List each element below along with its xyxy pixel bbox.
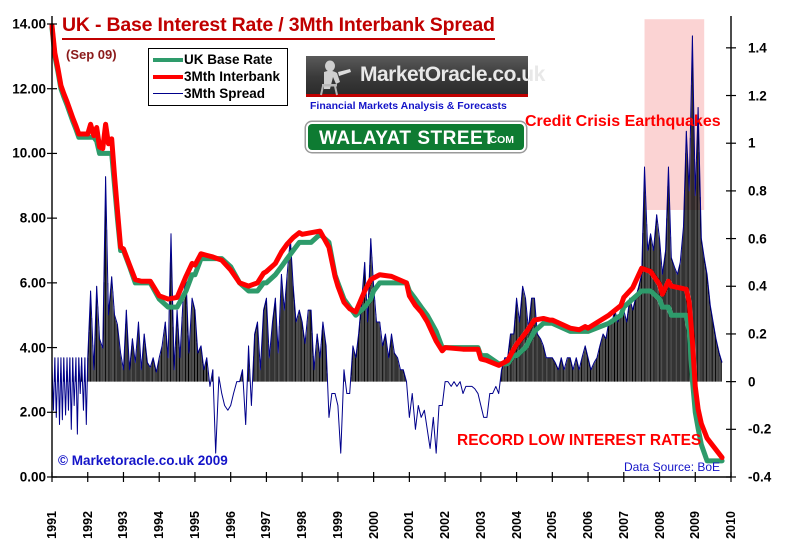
y-axis-left-labels: 0.002.004.006.008.0010.0012.0014.00 (0, 0, 46, 541)
reader-figure-icon (314, 58, 358, 96)
x-tick: 1991 (45, 511, 59, 539)
x-tick: 2000 (367, 511, 381, 539)
y-tick-right: 0.4 (748, 279, 767, 294)
y-tick-right: 0.8 (748, 183, 767, 198)
x-tick: 2010 (724, 511, 738, 539)
y-tick-right: 0 (748, 374, 756, 389)
x-tick: 1992 (81, 511, 95, 539)
y-axis-right-labels: -0.4-0.200.20.40.60.811.21.4 (748, 0, 798, 541)
x-tick: 1995 (188, 511, 202, 539)
y-tick-right: -0.2 (748, 422, 771, 437)
y-tick-right: 1 (748, 136, 756, 151)
marketoracle-logo-text: MarketOracle.co.uk (360, 63, 545, 87)
x-tick: 1996 (224, 511, 238, 539)
x-tick: 2002 (438, 511, 452, 539)
x-tick: 2003 (474, 511, 488, 539)
y-tick-right: 1.2 (748, 88, 767, 103)
walayat-street-tld: .COM (487, 134, 514, 146)
marketoracle-tagline: Financial Markets Analysis & Forecasts (310, 100, 507, 112)
legend-swatch-blue-icon (153, 93, 183, 95)
y-tick-left: 4.00 (20, 340, 46, 355)
legend-label-base-rate: UK Base Rate (184, 52, 273, 67)
y-tick-left: 2.00 (20, 405, 46, 420)
annotation-credit-crisis: Credit Crisis Earthquakes (525, 113, 721, 131)
y-tick-right: 1.4 (748, 40, 767, 55)
legend-label-spread: 3Mth Spread (184, 86, 265, 101)
x-axis-labels: 1991199219931994199519961997199819992000… (0, 481, 799, 539)
walayat-street-text: WALAYAT STREET (319, 128, 495, 150)
x-tick: 1993 (116, 511, 130, 539)
x-tick: 1998 (295, 511, 309, 539)
copyright-label: © Marketoracle.co.uk 2009 (58, 453, 228, 468)
annotation-record-low: RECORD LOW INTEREST RATES (457, 432, 701, 450)
chart-legend: UK Base Rate 3Mth Interbank 3Mth Spread (148, 48, 288, 106)
legend-item-base-rate: UK Base Rate (153, 51, 283, 68)
x-tick: 2004 (510, 511, 524, 539)
y-tick-right: 0.6 (748, 231, 767, 246)
x-tick: 1997 (259, 511, 273, 539)
x-tick: 1994 (152, 511, 166, 539)
chart-title: UK - Base Interest Rate / 3Mth Interbank… (62, 14, 495, 40)
y-tick-right: 0.2 (748, 326, 767, 341)
x-tick: 2005 (545, 511, 559, 539)
x-tick: 2009 (688, 511, 702, 539)
x-tick: 2007 (617, 511, 631, 539)
x-tick: 1999 (331, 511, 345, 539)
y-tick-left: 14.00 (12, 17, 46, 32)
marketoracle-logo[interactable]: MarketOracle.co.uk Financial Markets Ana… (306, 56, 528, 102)
y-tick-left: 10.00 (12, 146, 46, 161)
legend-item-interbank: 3Mth Interbank (153, 68, 283, 85)
legend-swatch-green-icon (153, 58, 183, 62)
y-tick-left: 8.00 (20, 211, 46, 226)
legend-swatch-red-icon (153, 75, 183, 79)
chart-root: UK - Base Interest Rate / 3Mth Interbank… (0, 0, 799, 541)
legend-item-spread: 3Mth Spread (153, 85, 283, 102)
as-of-label: (Sep 09) (66, 47, 117, 62)
walayat-street-logo[interactable]: WALAYAT STREET .COM (306, 122, 526, 152)
x-tick: 2008 (653, 511, 667, 539)
legend-label-interbank: 3Mth Interbank (184, 69, 280, 84)
data-source-label: Data Source: BoE (624, 460, 720, 474)
x-tick: 2001 (402, 511, 416, 539)
x-tick: 2006 (581, 511, 595, 539)
y-tick-left: 6.00 (20, 275, 46, 290)
y-tick-left: 12.00 (12, 81, 46, 96)
